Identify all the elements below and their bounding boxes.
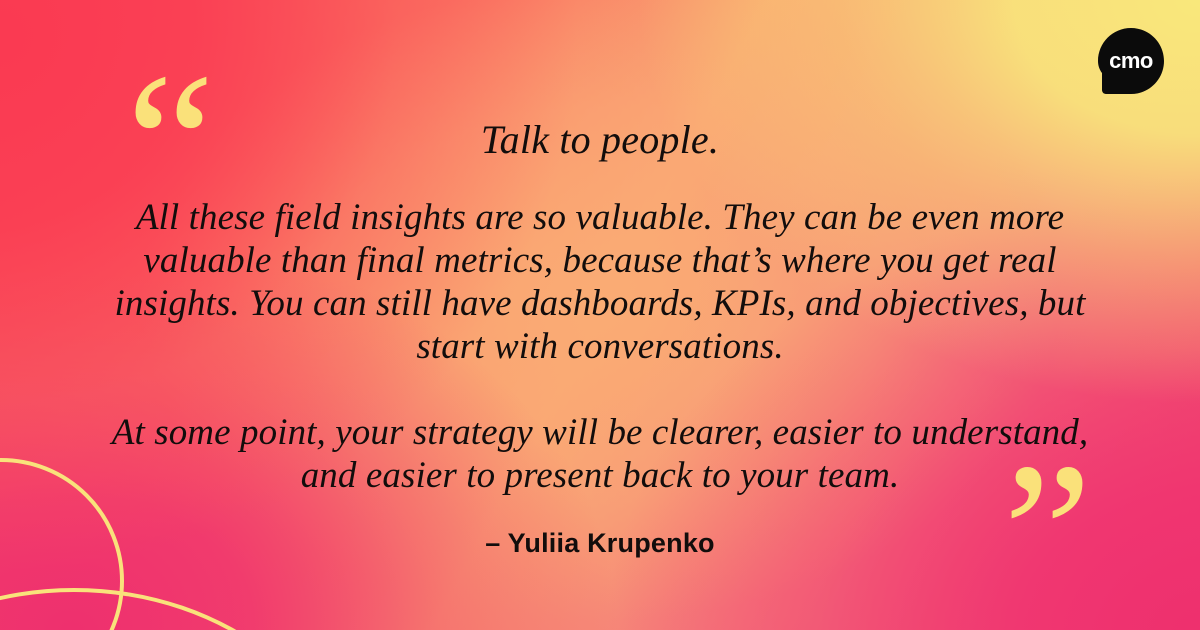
quote-card: cmo “ ” Talk to people. All these field … <box>0 0 1200 630</box>
quote-close-icon: ” <box>1003 490 1092 630</box>
quote-paragraph-2: At some point, your strategy will be cle… <box>100 412 1100 498</box>
decorative-circle-lower <box>0 588 358 630</box>
paragraph-spacer <box>100 398 1100 412</box>
quote-paragraph-1: All these field insights are so valuable… <box>100 197 1100 369</box>
quote-attribution: – Yuliia Krupenko <box>0 528 1200 559</box>
quote-lead: Talk to people. <box>100 118 1100 163</box>
cmo-logo[interactable]: cmo <box>1096 26 1166 96</box>
cmo-logo-icon: cmo <box>1096 26 1166 96</box>
svg-text:cmo: cmo <box>1109 48 1153 73</box>
quote-body: Talk to people. All these field insights… <box>100 118 1100 498</box>
